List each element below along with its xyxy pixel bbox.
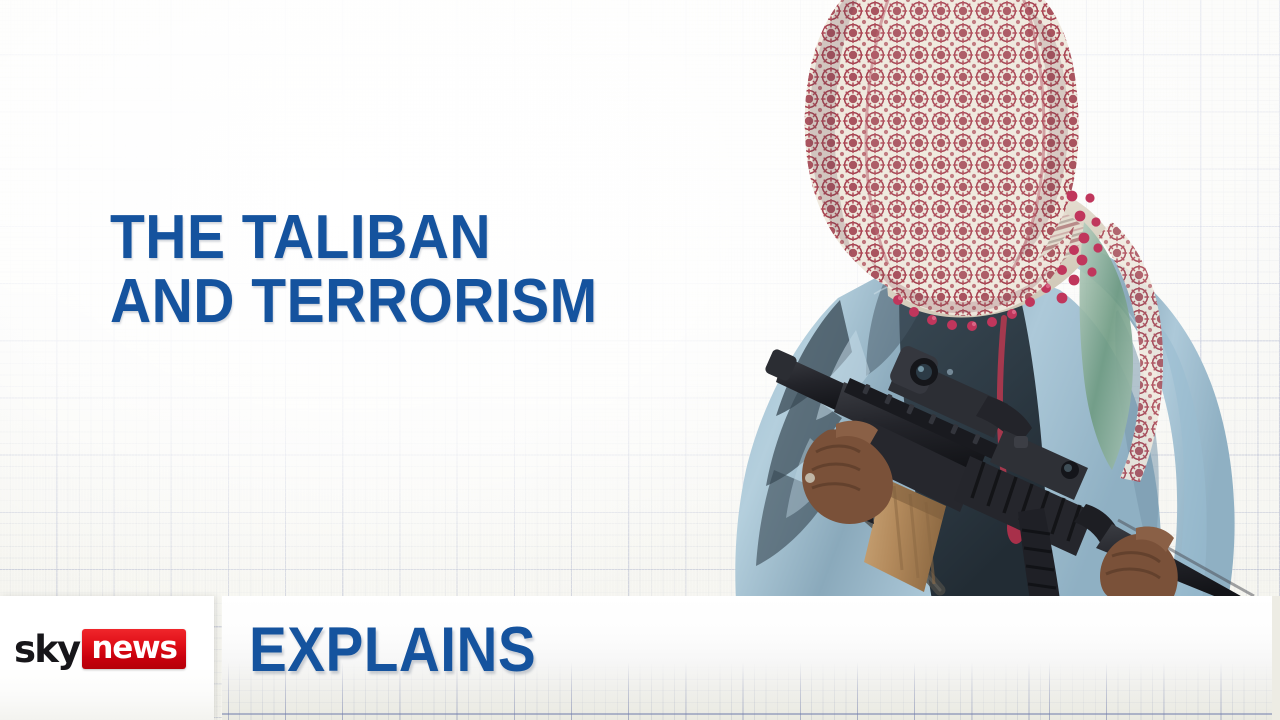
programme-label: EXPLAINS bbox=[249, 617, 536, 683]
sky-news-logo[interactable]: sky news bbox=[14, 629, 186, 669]
banner-right-edge bbox=[1272, 596, 1280, 720]
headline-line-2: AND TERRORISM bbox=[110, 270, 598, 334]
lower-third-banner bbox=[0, 596, 1280, 720]
headline-block: THE TALIBAN AND TERRORISM bbox=[110, 206, 640, 334]
logo-news-text: news bbox=[91, 633, 176, 664]
headline-line-1: THE TALIBAN bbox=[110, 206, 598, 270]
logo-sky-text: sky bbox=[14, 631, 82, 668]
logo-news-badge: news bbox=[82, 629, 185, 669]
subject-photo bbox=[688, 0, 1280, 600]
broadcast-graphic: THE TALIBAN AND TERRORISM bbox=[0, 0, 1280, 720]
